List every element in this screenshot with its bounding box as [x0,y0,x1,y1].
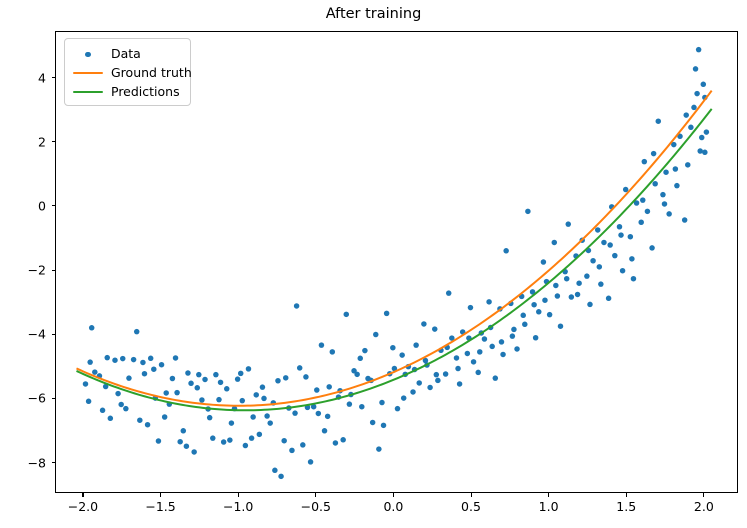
scatter-point [595,227,601,233]
scatter-point [541,259,547,265]
scatter-point [283,375,289,381]
scatter-point [455,366,461,372]
scatter-point [446,290,452,296]
line-series-ground-truth [76,91,711,406]
scatter-point [542,297,548,303]
x-tick-label: −2.0 [68,499,98,514]
scatter-point [202,377,208,383]
scatter-point [522,322,528,328]
y-tick-label: 2 [10,134,46,149]
y-tick-mark [52,398,56,399]
scatter-point [606,296,612,302]
scatter-point [379,400,385,406]
scatter-point [553,283,559,289]
figure-canvas: After training 420−2−4−6−8 −2.0−1.5−1.0−… [0,0,747,528]
scatter-point [674,183,680,189]
scatter-point [638,220,644,226]
scatter-point [694,91,700,97]
scatter-point [660,192,666,198]
scatter-point [576,280,582,286]
scatter-point [358,356,364,362]
scatter-point [493,375,499,381]
x-tick-mark [471,493,472,497]
scatter-point [294,303,300,309]
scatter-point [598,281,604,287]
scatter-point [618,232,624,238]
scatter-point [384,311,390,317]
scatter-point [333,440,339,446]
scatter-point [322,428,328,434]
x-tick-label: 2.0 [694,499,714,514]
scatter-point [142,371,148,377]
y-tick-mark [52,205,56,206]
scatter-point [195,385,201,391]
scatter-point [227,437,233,443]
scatter-point [370,420,376,426]
scatter-point [89,325,95,331]
scatter-point [213,372,219,378]
scatter-point [362,348,368,354]
scatter-point [642,159,648,165]
scatter-point [688,125,694,131]
scatter-point [531,302,537,308]
scatter-point [131,357,137,363]
scatter-point [590,258,596,264]
scatter-point [344,312,350,318]
scatter-point [390,345,396,351]
scatter-point [381,423,387,429]
legend-label-ground-truth: Ground truth [111,66,192,80]
scatter-point [326,384,332,390]
scatter-point [191,449,197,455]
x-tick-label: 0.0 [383,499,403,514]
scatter-point [199,397,205,403]
scatter-point [325,414,331,420]
scatter-point [651,151,657,157]
y-tick-label: −2 [10,263,46,278]
x-tick-label: −1.5 [145,499,175,514]
scatter-point [620,268,626,274]
scatter-point [434,372,440,378]
scatter-point [118,402,124,408]
scatter-point [218,380,224,386]
scatter-point [489,344,495,350]
scatter-point [597,264,603,270]
scatter-point [250,414,256,420]
scatter-point [662,201,668,207]
scatter-point [629,256,635,262]
scatter-point [443,371,449,377]
scatter-point [340,437,346,443]
scatter-point [666,211,672,217]
legend-label-data: Data [111,47,141,61]
x-tick-label: 0.5 [461,499,481,514]
scatter-point [300,442,306,448]
scatter-point [499,339,505,345]
scatter-point [100,408,106,414]
scatter-point [221,439,227,445]
scatter-point [174,390,180,396]
scatter-point [104,355,110,361]
scatter-point [330,349,336,355]
scatter-point [86,399,92,405]
x-tick-mark [160,493,161,497]
scatter-point [475,370,481,376]
scatter-point [272,468,278,474]
scatter-point [123,406,129,412]
scatter-point [87,359,93,365]
x-tick-mark [393,493,394,497]
scatter-point [278,474,284,480]
scatter-point [303,374,309,380]
page-title: After training [0,6,747,22]
y-tick-label: 0 [10,198,46,213]
scatter-point [612,253,618,259]
y-tick-label: −8 [10,455,46,470]
scatter-point [601,240,607,246]
scatter-point [216,397,222,403]
scatter-point [547,312,553,318]
legend-item-predictions: Predictions [71,82,183,101]
scatter-point [704,129,710,135]
scatter-point [435,378,441,384]
scatter-point [281,438,287,444]
scatter-point [533,335,539,341]
scatter-point [555,293,561,299]
scatter-point [631,276,637,282]
scatter-point [235,376,241,382]
legend-marker-icon [71,47,105,61]
scatter-point [566,221,572,227]
scatter-point [112,357,118,363]
legend: Data Ground truth Predictions [64,38,191,106]
scatter-point [486,299,492,305]
x-tick-label: −1.0 [223,499,253,514]
scatter-point [628,234,634,240]
y-tick-mark [52,462,56,463]
scatter-point [652,181,658,187]
scatter-point [510,333,516,339]
scatter-point [645,209,651,215]
y-tick-mark [52,141,56,142]
scatter-point [148,356,154,362]
scatter-point [454,355,460,361]
scatter-point [699,135,705,141]
scatter-point [163,390,169,396]
scatter-point [511,327,517,333]
scatter-point [564,276,570,282]
scatter-point [558,323,564,329]
legend-label-predictions: Predictions [111,85,180,99]
scatter-point [170,376,176,382]
scatter-point [210,435,216,441]
scatter-point [500,352,506,358]
legend-item-ground-truth: Ground truth [71,63,183,82]
scatter-point [137,417,143,423]
scatter-point [685,162,691,168]
scatter-point [267,420,273,426]
legend-line-icon-predictions [71,85,105,99]
scatter-point [468,305,474,311]
scatter-point [552,240,558,246]
scatter-point [432,326,438,332]
y-tick-mark [52,334,56,335]
legend-line-icon-ground-truth [71,66,105,80]
scatter-point [575,292,581,298]
scatter-point [253,392,258,398]
scatter-point [359,404,365,410]
scatter-point [376,446,382,452]
scatter-point [457,381,463,387]
scatter-point [126,375,131,381]
y-tick-label: −6 [10,391,46,406]
scatter-point [503,248,509,254]
scatter-point [181,428,187,434]
scatter-point [297,365,303,371]
scatter-point [156,438,162,444]
scatter-point [229,420,235,426]
scatter-point [246,366,252,372]
scatter-point [108,416,114,422]
scatter-point [401,395,407,401]
scatter-point [238,371,244,377]
scatter-point [701,82,707,88]
scatter-point [683,112,689,118]
scatter-point [640,197,646,203]
scatter-point [656,118,662,124]
scatter-point [569,294,575,300]
line-series-predictions [76,109,711,410]
scatter-point [525,209,531,215]
scatter-point [275,378,281,384]
scatter-point [663,169,669,175]
scatter-point [261,396,267,402]
scatter-point [354,372,360,378]
scatter-point [413,342,419,348]
x-tick-mark [82,493,83,497]
scatter-point [696,47,702,53]
scatter-point [184,443,190,449]
scatter-point [140,360,146,366]
scatter-point [120,356,126,362]
scatter-point [587,302,593,308]
scatter-point [395,406,401,412]
scatter-point [536,309,542,315]
x-tick-label: 1.0 [539,499,559,514]
scatter-point [691,105,697,111]
y-tick-mark [52,77,56,78]
x-tick-mark [238,493,239,497]
scatter-point [649,245,655,251]
scatter-point [399,352,405,358]
scatter-point [159,362,165,368]
scatter-point [477,349,483,355]
scatter-point [697,148,703,154]
scatter-point [115,391,121,397]
scatter-point [240,398,246,404]
scatter-point [410,389,416,395]
scatter-point [196,372,202,378]
scatter-point [673,166,679,172]
scatter-point [702,150,708,156]
scatter-point [314,387,320,393]
scatter-point [224,386,230,392]
scatter-point [145,422,151,428]
scatter-point [319,342,325,348]
x-tick-label: −0.5 [301,499,331,514]
scatter-point [471,359,477,365]
scatter-point [292,410,298,416]
scatter-point [584,273,590,279]
y-tick-label: −4 [10,327,46,342]
scatter-point [373,332,379,338]
scatter-point [173,355,179,361]
y-tick-label: 4 [10,70,46,85]
scatter-point [260,384,266,390]
scatter-point [617,224,623,230]
scatter-point [257,432,263,438]
scatter-point [134,329,140,335]
x-tick-mark [548,493,549,497]
scatter-point [185,370,191,376]
scatter-series-data [83,47,709,479]
scatter-point [347,401,353,407]
legend-item-data: Data [71,44,183,63]
scatter-point [514,346,520,352]
scatter-point [162,414,168,420]
scatter-point [607,242,613,248]
scatter-point [243,443,249,449]
scatter-point [264,413,270,419]
scatter-point [465,351,471,357]
y-tick-mark [52,270,56,271]
scatter-point [177,439,183,445]
scatter-point [427,385,433,391]
scatter-point [83,381,89,387]
scatter-point [308,459,314,465]
scatter-point [693,66,699,72]
x-tick-mark [703,493,704,497]
scatter-point [682,217,688,223]
scatter-point [151,366,157,372]
scatter-point [92,369,98,375]
x-tick-mark [626,493,627,497]
scatter-point [289,448,295,454]
scatter-point [520,313,526,319]
x-tick-mark [315,493,316,497]
scatter-point [207,415,213,421]
scatter-point [416,380,422,386]
scatter-point [249,435,255,441]
scatter-point [188,381,194,387]
x-tick-label: 1.5 [616,499,636,514]
scatter-point [316,411,322,417]
scatter-point [482,336,488,342]
scatter-point [421,321,427,327]
